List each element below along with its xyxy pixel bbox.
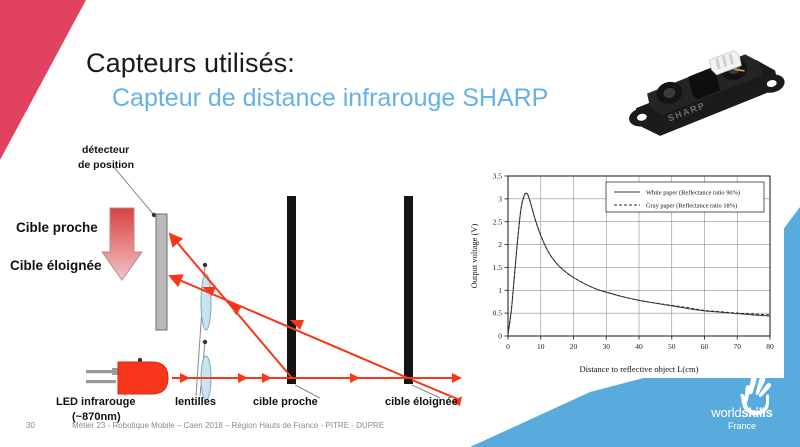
diagram-label-detector-line2: de position bbox=[78, 159, 134, 171]
svg-text:White paper (Reflectance ratio: White paper (Reflectance ratio 90%) bbox=[646, 190, 740, 197]
svg-text:70: 70 bbox=[734, 342, 742, 351]
slide-canvas: Capteurs utilisés: Capteur de distance i… bbox=[0, 0, 800, 447]
diagram-label-lenses: lentilles bbox=[175, 396, 216, 408]
diagram-label-target-far: Cible éloignée bbox=[10, 258, 102, 273]
svg-text:Gray paper (Reflectance ratio: Gray paper (Reflectance ratio 18%) bbox=[646, 203, 737, 210]
worldskills-france-logo: worldskills France bbox=[694, 371, 790, 433]
svg-text:30: 30 bbox=[603, 342, 611, 351]
response-curve-chart: 0102030405060708000.511.522.533.5Distanc… bbox=[466, 166, 784, 378]
svg-text:3: 3 bbox=[498, 194, 502, 203]
diagram-label-far-target: cible éloignée bbox=[385, 396, 458, 408]
diagram-label-target-near: Cible proche bbox=[16, 220, 98, 235]
footer-text: Métier 23 - Robotique Mobile – Caen 2018… bbox=[72, 421, 384, 430]
diagram-label-led-line1: LED infrarouge bbox=[56, 396, 135, 408]
logo-country: France bbox=[694, 421, 790, 431]
logo-word-bold: skills bbox=[741, 405, 772, 420]
diagram-label-near-target: cible proche bbox=[253, 396, 318, 408]
svg-text:10: 10 bbox=[537, 342, 545, 351]
logo-wordmark: worldskills bbox=[694, 406, 790, 419]
svg-text:0.5: 0.5 bbox=[493, 309, 503, 318]
logo-word-light: world bbox=[711, 405, 741, 420]
diagram-label-detector-line1: détecteur bbox=[82, 144, 129, 156]
svg-text:Output voltage (V): Output voltage (V) bbox=[469, 223, 479, 288]
svg-text:3.5: 3.5 bbox=[493, 172, 503, 181]
infrared-led bbox=[86, 362, 168, 394]
svg-text:80: 80 bbox=[766, 342, 774, 351]
svg-text:20: 20 bbox=[570, 342, 578, 351]
svg-text:50: 50 bbox=[668, 342, 676, 351]
svg-text:2: 2 bbox=[498, 240, 502, 249]
svg-text:0: 0 bbox=[498, 332, 502, 341]
slide-number: 30 bbox=[26, 421, 35, 430]
svg-text:0: 0 bbox=[506, 342, 510, 351]
optical-path-diagram: détecteur de position Cible proche Cible… bbox=[0, 130, 470, 415]
sharp-sensor-photo: SHARP bbox=[612, 42, 794, 142]
page-subtitle: Capteur de distance infrarouge SHARP bbox=[112, 84, 548, 113]
svg-text:1: 1 bbox=[498, 286, 502, 295]
svg-text:40: 40 bbox=[635, 342, 643, 351]
svg-text:1.5: 1.5 bbox=[493, 263, 503, 272]
sweep-arrow bbox=[102, 208, 142, 280]
svg-text:2.5: 2.5 bbox=[493, 217, 503, 226]
svg-text:Distance to reflective object: Distance to reflective object L(cm) bbox=[580, 364, 699, 374]
page-title: Capteurs utilisés: bbox=[86, 48, 295, 79]
svg-text:60: 60 bbox=[701, 342, 709, 351]
